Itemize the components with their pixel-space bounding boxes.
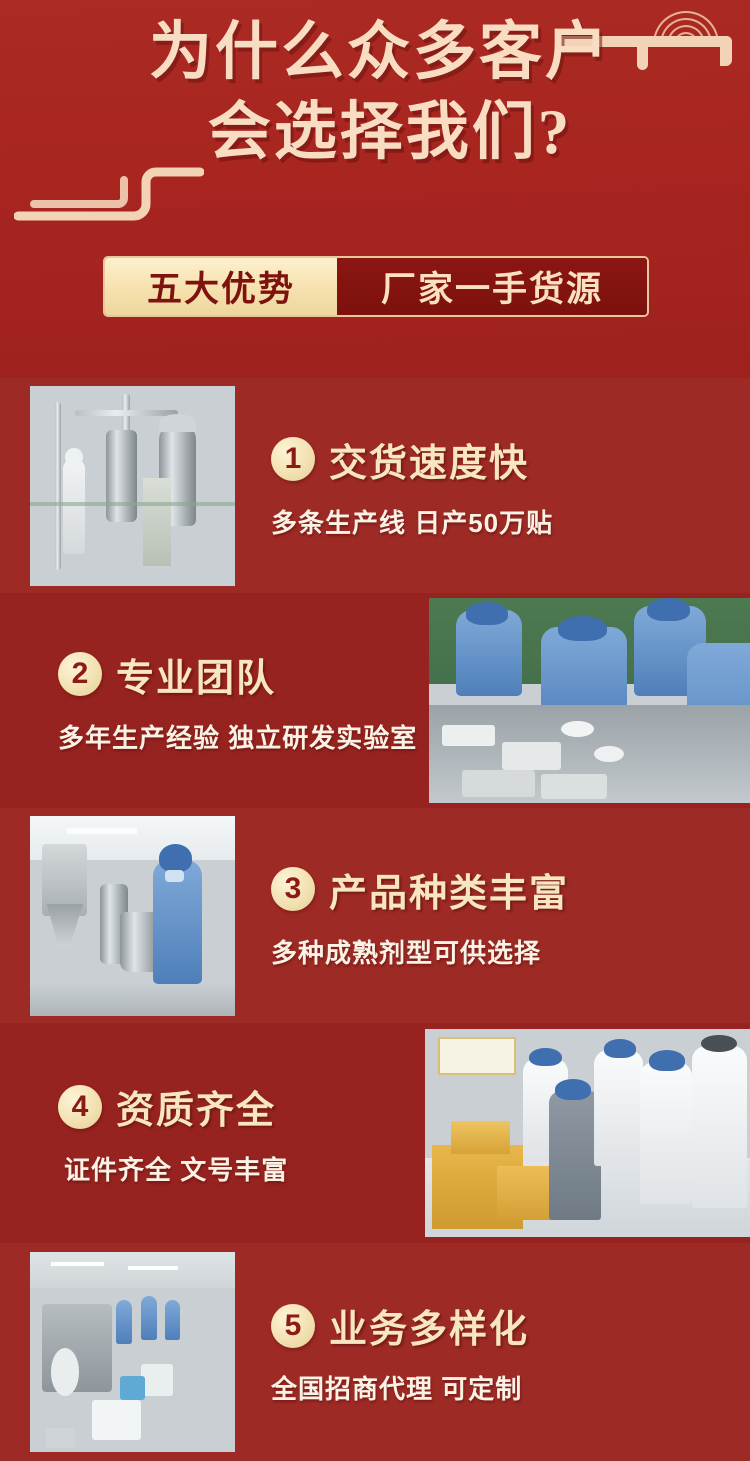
feature-list: 1 交货速度快 多条生产线 日产50万贴 2 专业团队 多年生产经验 独立研发实… [0,378,750,1461]
feature-text-1: 1 交货速度快 多条生产线 日产50万贴 [235,432,750,540]
feature-subtitle-5: 全国招商代理 可定制 [271,1369,738,1406]
feature-row-4: 4 资质齐全 证件齐全 文号丰富 [0,1023,750,1243]
poster-header: 为什么众多客户 会选择我们? 五大优势 厂家一手货源 [0,0,750,378]
feature-number-2: 2 [58,652,102,696]
title-line-2: 会选择我们? [0,98,750,166]
badge-left-segment: 五大优势 [105,258,337,315]
feature-row-2: 2 专业团队 多年生产经验 独立研发实验室 [0,593,750,808]
feature-heading-line-2: 2 专业团队 [58,647,417,702]
feature-number-3: 3 [271,867,315,911]
title-line-1: 为什么众多客户 [0,18,750,86]
feature-heading-line-3: 3 产品种类丰富 [271,862,738,917]
feature-row-1: 1 交货速度快 多条生产线 日产50万贴 [0,378,750,593]
feature-title-5: 业务多样化 [329,1298,529,1353]
promo-poster: 为什么众多客户 会选择我们? 五大优势 厂家一手货源 [0,0,750,1461]
feature-subtitle-3: 多种成熟剂型可供选择 [271,933,738,970]
feature-heading-line-5: 5 业务多样化 [271,1298,738,1353]
feature-photo-1 [30,386,235,586]
feature-title-1: 交货速度快 [329,432,529,487]
feature-subtitle-2: 多年生产经验 独立研发实验室 [58,718,417,755]
page-title: 为什么众多客户 会选择我们? [0,18,750,166]
feature-title-3: 产品种类丰富 [329,862,569,917]
feature-text-4: 4 资质齐全 证件齐全 文号丰富 [0,1079,425,1187]
badge-left-label: 五大优势 [147,261,295,312]
feature-title-4: 资质齐全 [116,1079,276,1134]
advantage-badge: 五大优势 厂家一手货源 [103,256,649,317]
feature-photo-2 [429,598,750,803]
feature-photo-4 [425,1029,750,1237]
feature-title-2: 专业团队 [116,647,276,702]
feature-heading-line-1: 1 交货速度快 [271,432,738,487]
feature-subtitle-4: 证件齐全 文号丰富 [58,1150,413,1187]
feature-photo-3 [30,816,235,1016]
feature-subtitle-1: 多条生产线 日产50万贴 [271,503,738,540]
feature-text-5: 5 业务多样化 全国招商代理 可定制 [235,1298,750,1406]
feature-text-3: 3 产品种类丰富 多种成熟剂型可供选择 [235,862,750,970]
feature-heading-line-4: 4 资质齐全 [58,1079,413,1134]
feature-number-4: 4 [58,1085,102,1129]
badge-right-segment: 厂家一手货源 [337,258,647,315]
feature-row-3: 3 产品种类丰富 多种成熟剂型可供选择 [0,808,750,1023]
feature-text-2: 2 专业团队 多年生产经验 独立研发实验室 [0,647,429,755]
badge-right-label: 厂家一手货源 [381,261,603,312]
feature-row-5: 5 业务多样化 全国招商代理 可定制 [0,1243,750,1461]
feature-number-1: 1 [271,437,315,481]
feature-photo-5 [30,1252,235,1452]
feature-number-5: 5 [271,1304,315,1348]
